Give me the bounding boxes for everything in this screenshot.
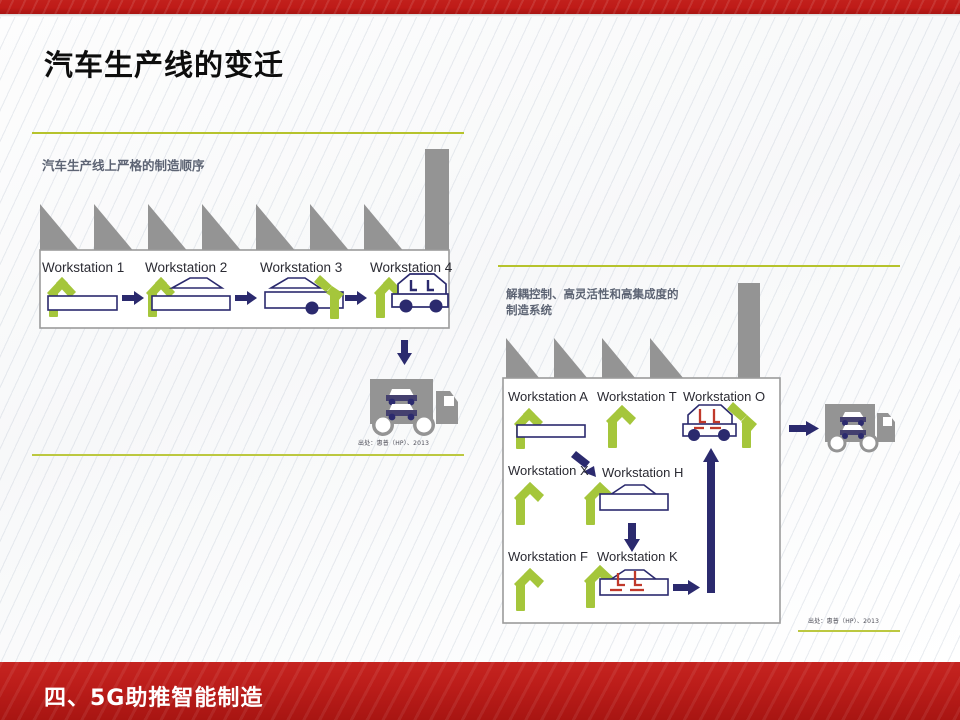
factory-roof-icon: [506, 283, 760, 385]
left-panel-source: 出处：惠普（HP）、2013: [358, 438, 429, 447]
delivery-truck-icon: [370, 379, 458, 436]
right-panel-graphic: Workstation A Workstation T Workstation …: [498, 265, 900, 635]
top-band-shadow: [0, 14, 960, 17]
workstation-label-4: Workstation 4: [370, 260, 453, 275]
right-panel-source: 出处：惠普（HP）、2013: [808, 616, 879, 625]
workstation-cell-2: Workstation 2: [145, 260, 230, 317]
factory-chimney-icon: [738, 283, 760, 385]
workstation-label-K: Workstation K: [597, 549, 678, 564]
wheel-icon: [306, 302, 319, 315]
workstation-label-2: Workstation 2: [145, 260, 227, 275]
slide-canvas: 汽车生产线的变迁 汽车生产线上严格的制造顺序 Workstation 1: [0, 0, 960, 720]
output-down-arrow: [397, 340, 412, 365]
page-title: 汽车生产线的变迁: [44, 42, 284, 84]
workstation-label-3: Workstation 3: [260, 260, 342, 275]
chassis-icon: [600, 494, 668, 510]
left-panel-graphic: Workstation 1 Workstation 2: [32, 132, 464, 462]
workstation-label-A: Workstation A: [508, 389, 588, 404]
workstation-label-H: Workstation H: [602, 465, 683, 480]
delivery-truck-icon: [825, 404, 895, 453]
wheel-icon: [688, 429, 700, 441]
output-right-arrow: [789, 421, 819, 436]
workstation-cell-4: Workstation 4: [370, 260, 453, 318]
top-red-band: [0, 0, 960, 14]
chassis-icon: [517, 425, 585, 437]
footer-section-label: 四、5G助推智能制造: [44, 680, 263, 712]
workstation-label-F: Workstation F: [508, 549, 588, 564]
right-panel-bottom-rule: [798, 630, 900, 632]
left-panel: 汽车生产线上严格的制造顺序 Workstation 1: [32, 132, 464, 462]
workstation-label-O: Workstation O: [683, 389, 765, 404]
wheel-icon: [718, 429, 730, 441]
factory-roof-icon: [40, 149, 449, 260]
left-panel-bottom-rule: [32, 454, 464, 456]
workstation-label-X: Workstation X: [508, 463, 589, 478]
chassis-icon: [152, 296, 230, 310]
workstation-label-1: Workstation 1: [42, 260, 124, 275]
chassis-icon: [48, 296, 117, 310]
right-panel: 解耦控制、高灵活性和高集成度的 制造系统 Workstation A: [498, 265, 900, 635]
workstation-label-T: Workstation T: [597, 389, 677, 404]
wheel-icon: [430, 300, 443, 313]
factory-chimney-icon: [425, 149, 449, 260]
wheel-icon: [400, 300, 413, 313]
